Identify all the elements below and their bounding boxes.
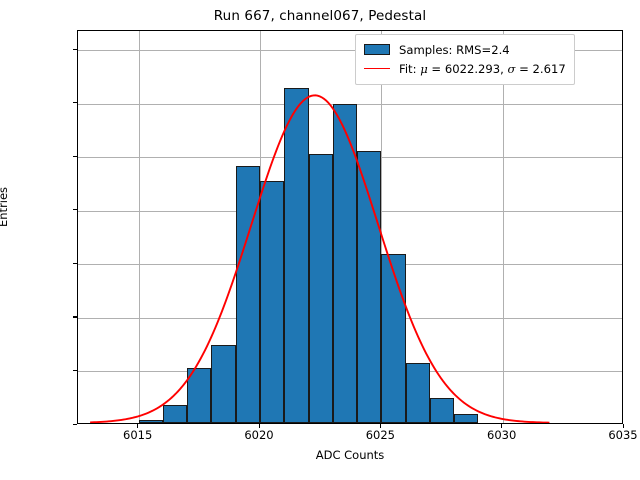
x-tick-mark [137, 424, 138, 428]
legend-fit-mu: = 6022.293, [428, 62, 508, 76]
gaussian-fit-curve [78, 31, 622, 423]
legend-item-samples: Samples: RMS=2.4 [364, 40, 566, 59]
legend-line-icon [364, 68, 390, 69]
x-tick-label: 6025 [366, 428, 395, 442]
legend-label-fit: Fit: μ = 6022.293, σ = 2.617 [399, 62, 566, 76]
legend: Samples: RMS=2.4 Fit: μ = 6022.293, σ = … [355, 34, 575, 85]
legend-patch-icon [364, 44, 390, 55]
mu-symbol: μ [420, 62, 428, 76]
plot-area [77, 30, 623, 424]
x-tick-mark [380, 424, 381, 428]
x-tick-label: 6030 [487, 428, 516, 442]
legend-fit-prefix: Fit: [399, 62, 420, 76]
y-axis-label: Entries [0, 187, 10, 227]
x-tick-label: 6035 [608, 428, 637, 442]
page-title: Run 667, channel067, Pedestal [0, 8, 640, 24]
matplotlib-figure: Run 667, channel067, Pedestal Entries AD… [0, 0, 640, 480]
x-axis-label: ADC Counts [77, 448, 623, 462]
x-tick-mark [259, 424, 260, 428]
x-tick-label: 6020 [244, 428, 273, 442]
legend-fit-sigma: = 2.617 [515, 62, 565, 76]
x-tick-label: 6015 [123, 428, 152, 442]
legend-item-fit: Fit: μ = 6022.293, σ = 2.617 [364, 59, 566, 78]
legend-label-samples: Samples: RMS=2.4 [399, 43, 510, 57]
x-tick-mark [501, 424, 502, 428]
x-tick-mark [623, 424, 624, 428]
